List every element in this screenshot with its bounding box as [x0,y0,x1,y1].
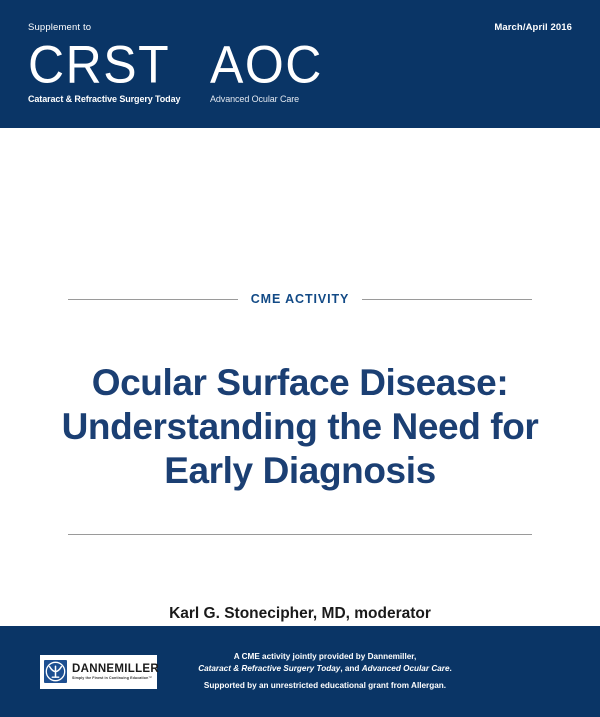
aoc-wordmark: AOC [210,38,350,91]
divider-left [68,299,238,300]
dannemiller-text: DANNEMILLER Simply the Finest in Continu… [72,663,159,681]
dannemiller-name: DANNEMILLER [72,663,159,675]
credit-period: . [450,664,452,673]
credit-conjunction: , and [340,664,361,673]
faculty-moderator: Karl G. Stonecipher, MD, moderator [40,602,560,625]
cme-activity-label: CME ACTIVITY [251,292,350,306]
dannemiller-tagline: Simply the Finest in Continuing Educatio… [72,676,159,681]
dannemiller-mark-icon [44,660,67,683]
crst-wordmark: CRST [28,38,194,91]
aoc-tagline: Advanced Ocular Care [210,94,350,104]
cover-main: CME ACTIVITY Ocular Surface Disease: Und… [0,128,600,626]
title-line-1: Ocular Surface Disease: [40,361,560,405]
publication-logos: CRST Cataract & Refractive Surgery Today… [28,38,350,104]
cover-page: Supplement to March/April 2016 CRST Cata… [0,0,600,717]
crst-logo: CRST Cataract & Refractive Surgery Today [28,38,194,104]
credit-journal-aoc: Advanced Ocular Care [362,664,450,673]
title-line-3: Early Diagnosis [40,449,560,493]
aoc-logo: AOC Advanced Ocular Care [210,38,350,104]
title-line-2: Understanding the Need for [40,405,560,449]
footer-credits: A CME activity jointly provided by Danne… [175,651,475,693]
divider-right [362,299,532,300]
issue-date: March/April 2016 [494,22,572,33]
credit-line-1: A CME activity jointly provided by Danne… [175,651,475,664]
dannemiller-logo: DANNEMILLER Simply the Finest in Continu… [40,655,157,689]
title-divider [68,534,532,535]
credit-journal-crst: Cataract & Refractive Surgery Today [198,664,340,673]
cme-activity-banner: CME ACTIVITY [68,292,532,306]
support-line: Supported by an unrestricted educational… [175,680,475,693]
crst-tagline: Cataract & Refractive Surgery Today [28,94,194,104]
header-band: Supplement to March/April 2016 CRST Cata… [0,0,600,128]
footer-band: DANNEMILLER Simply the Finest in Continu… [0,626,600,717]
header-top-row: Supplement to March/April 2016 [28,22,572,33]
credit-line-2: Cataract & Refractive Surgery Today, and… [175,663,475,676]
page-title: Ocular Surface Disease: Understanding th… [40,361,560,493]
supplement-label: Supplement to [28,22,91,33]
